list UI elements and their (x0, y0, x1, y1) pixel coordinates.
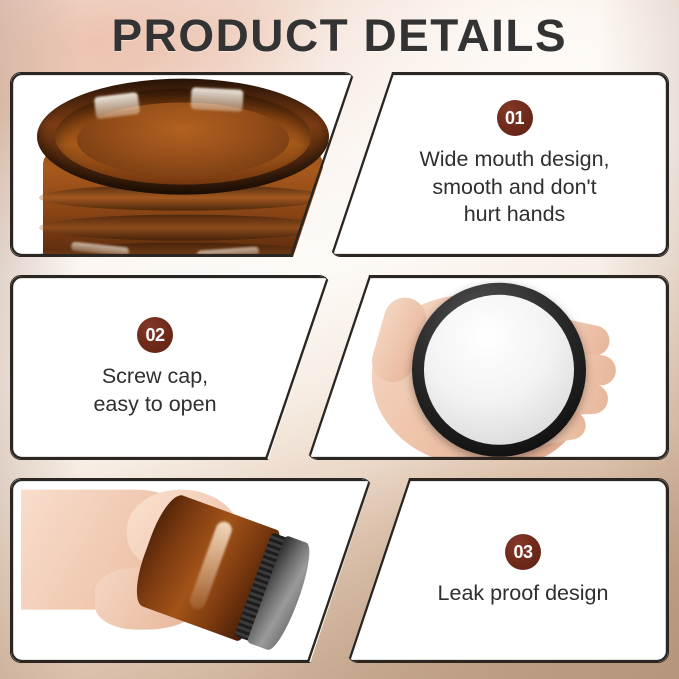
cap-outer-ring (412, 282, 586, 456)
hand-holding-cap-photo: Hand holding black screw cap showing whi… (308, 276, 668, 459)
hand-holding-cap-panel: Hand holding black screw cap showing whi… (307, 275, 669, 460)
feature-row-3: Hand holding tilted amber jar sealed wit… (10, 478, 669, 663)
jar-illustration (33, 73, 333, 256)
feature-text-panel-2: 02 Screw cap, easy to open (10, 275, 330, 460)
jar-wide-mouth-photo: Close-up of amber glass jar wide mouth o… (11, 73, 354, 256)
feature-badge-03: 03 (505, 534, 541, 570)
feature-text-body-1: 01 Wide mouth design, smooth and don't h… (331, 73, 668, 256)
feature-row-2: 02 Screw cap, easy to open (10, 275, 669, 460)
feature-rows: Close-up of amber glass jar wide mouth o… (0, 72, 679, 663)
hand-cap-illustration (338, 276, 638, 459)
hand-holding-jar-panel: Hand holding tilted amber jar sealed wit… (10, 478, 372, 663)
hand-jar-illustration (31, 483, 351, 662)
feature-text-body-2: 02 Screw cap, easy to open (11, 276, 329, 459)
highlight-glare (93, 92, 139, 119)
cap-white-liner (424, 294, 574, 444)
header: PRODUCT DETAILS (0, 0, 679, 72)
feature-description-3: Leak proof design (438, 580, 609, 608)
jar-thread-icon (39, 214, 327, 240)
feature-row-1: Close-up of amber glass jar wide mouth o… (10, 72, 669, 257)
highlight-glare (190, 87, 243, 112)
feature-badge-02: 02 (137, 317, 173, 353)
jar-wide-mouth-panel: Close-up of amber glass jar wide mouth o… (10, 72, 355, 257)
page-title: PRODUCT DETAILS (112, 10, 568, 62)
feature-description-2: Screw cap, easy to open (93, 363, 216, 418)
feature-text-panel-1: 01 Wide mouth design, smooth and don't h… (330, 72, 669, 257)
feature-text-panel-3: 03 Leak proof design (347, 478, 669, 663)
hand-holding-jar-photo: Hand holding tilted amber jar sealed wit… (11, 479, 371, 662)
feature-badge-01: 01 (497, 100, 533, 136)
feature-text-body-3: 03 Leak proof design (348, 479, 668, 662)
feature-description-1: Wide mouth design, smooth and don't hurt… (419, 146, 609, 229)
product-details-infographic: PRODUCT DETAILS (0, 0, 679, 679)
